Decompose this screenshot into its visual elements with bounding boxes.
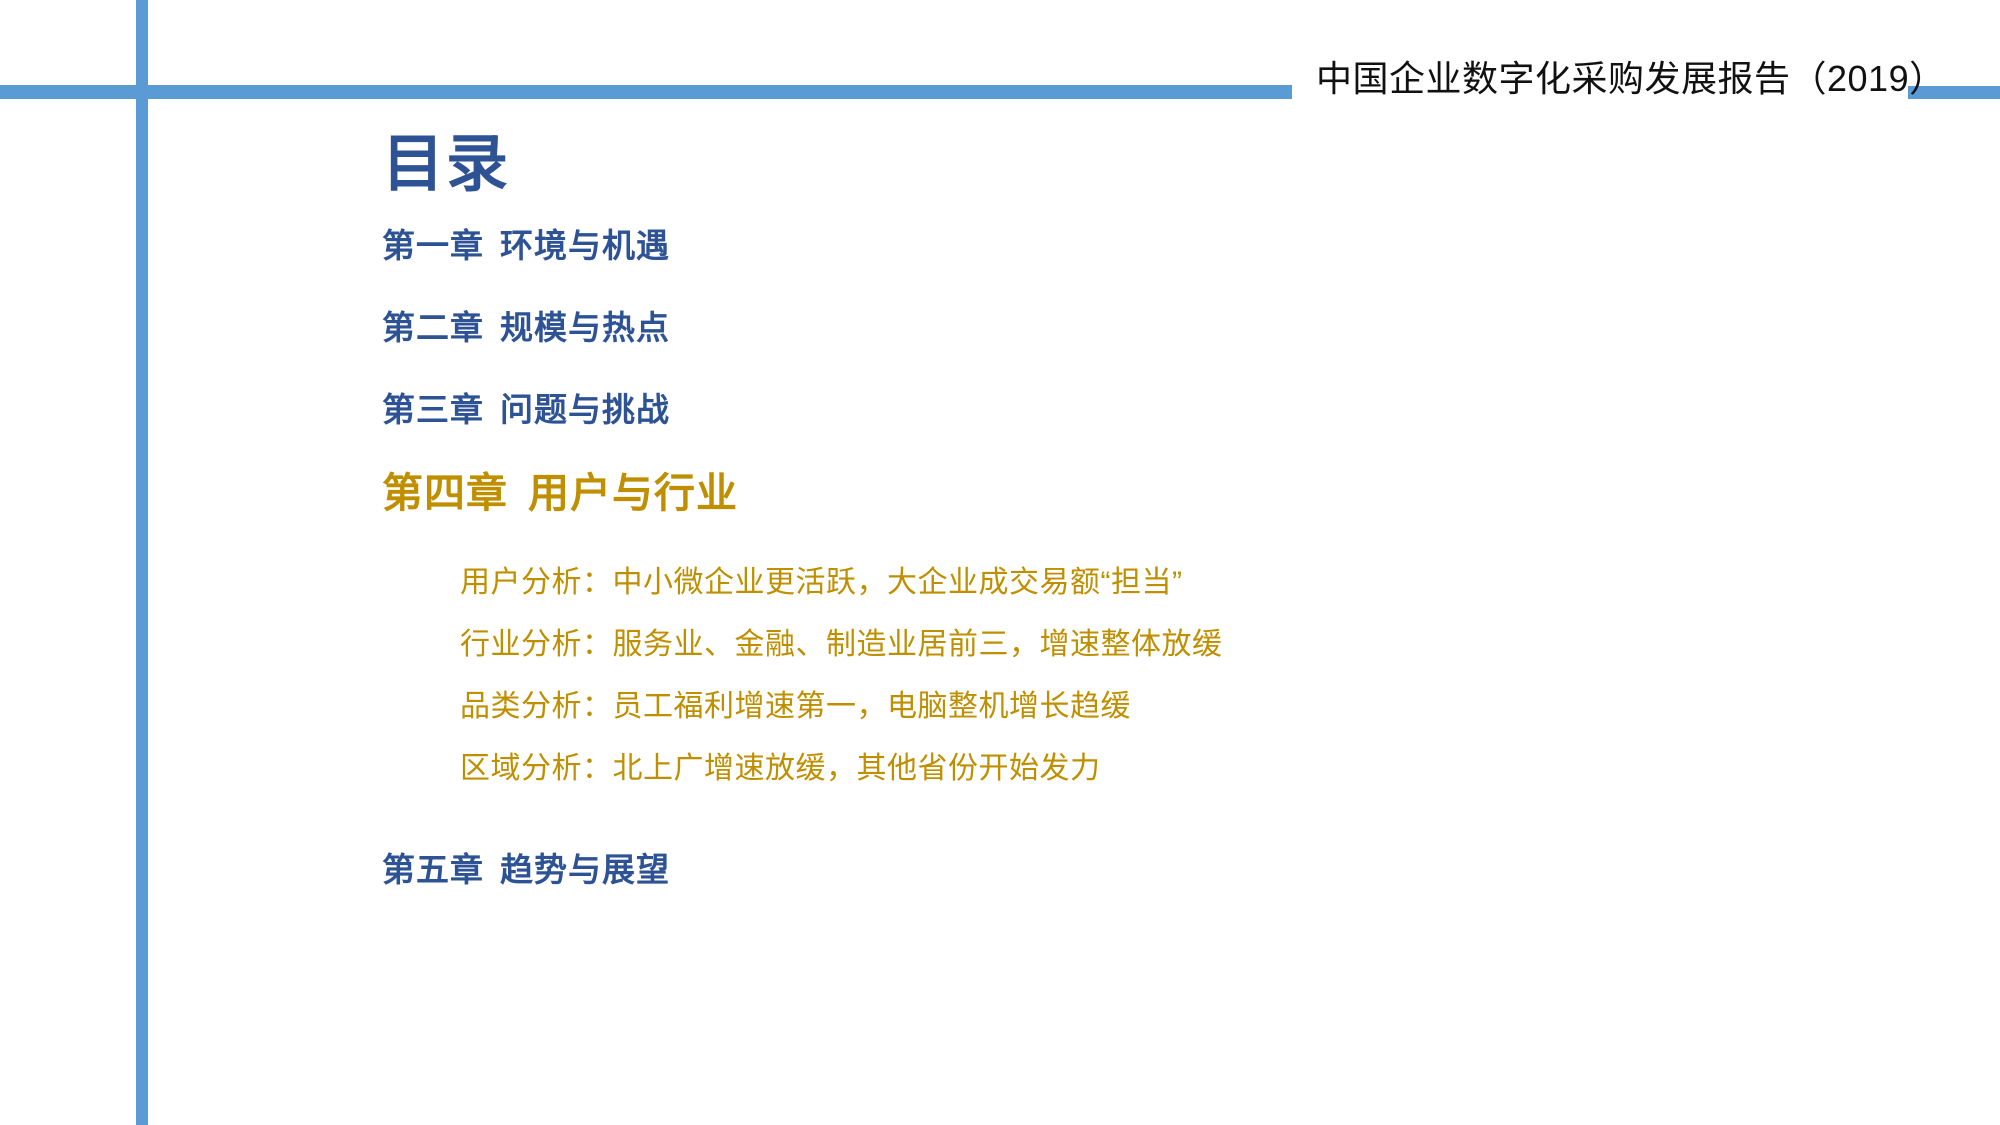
header-horizontal-rule [0, 85, 1292, 99]
toc-chapter-2-label: 规模与热点 [500, 309, 670, 346]
toc-subitem-category-analysis[interactable]: 品类分析：员工福利增速第一，电脑整机增长趋缓 [460, 676, 1862, 738]
page-title: 目录 [382, 128, 1862, 202]
toc-subitem-region-analysis[interactable]: 区域分析：北上广增速放缓，其他省份开始发力 [460, 738, 1862, 800]
toc-content: 目录 第一章环境与机遇 第二章规模与热点 第三章问题与挑战 第四章用户与行业 用… [382, 128, 1862, 890]
left-vertical-rule [136, 0, 148, 1125]
toc-chapter-4-label: 用户与行业 [528, 470, 738, 516]
toc-chapter-2-number: 第二章 [382, 309, 484, 346]
report-title: 中国企业数字化采购发展报告（2019） [1316, 58, 1946, 100]
toc-chapter-2[interactable]: 第二章规模与热点 [382, 308, 1862, 348]
toc-chapter-5[interactable]: 第五章趋势与展望 [382, 850, 1862, 890]
toc-subitem-user-analysis[interactable]: 用户分析：中小微企业更活跃，大企业成交易额“担当” [460, 552, 1862, 614]
toc-chapter-4-subitems: 用户分析：中小微企业更活跃，大企业成交易额“担当” 行业分析：服务业、金融、制造… [460, 552, 1862, 800]
toc-subitem-industry-analysis[interactable]: 行业分析：服务业、金融、制造业居前三，增速整体放缓 [460, 614, 1862, 676]
toc-chapter-4[interactable]: 第四章用户与行业 [382, 468, 1862, 518]
toc-chapter-3[interactable]: 第三章问题与挑战 [382, 390, 1862, 430]
toc-chapter-5-number: 第五章 [382, 851, 484, 888]
toc-chapter-1-label: 环境与机遇 [500, 227, 670, 264]
toc-chapter-5-label: 趋势与展望 [500, 851, 670, 888]
toc-chapter-4-number: 第四章 [382, 470, 508, 516]
toc-chapter-1[interactable]: 第一章环境与机遇 [382, 226, 1862, 266]
toc-chapter-1-number: 第一章 [382, 227, 484, 264]
toc-chapter-3-label: 问题与挑战 [500, 391, 670, 428]
toc-chapter-3-number: 第三章 [382, 391, 484, 428]
slide-root: 中国企业数字化采购发展报告（2019） 目录 第一章环境与机遇 第二章规模与热点… [0, 0, 2000, 1125]
